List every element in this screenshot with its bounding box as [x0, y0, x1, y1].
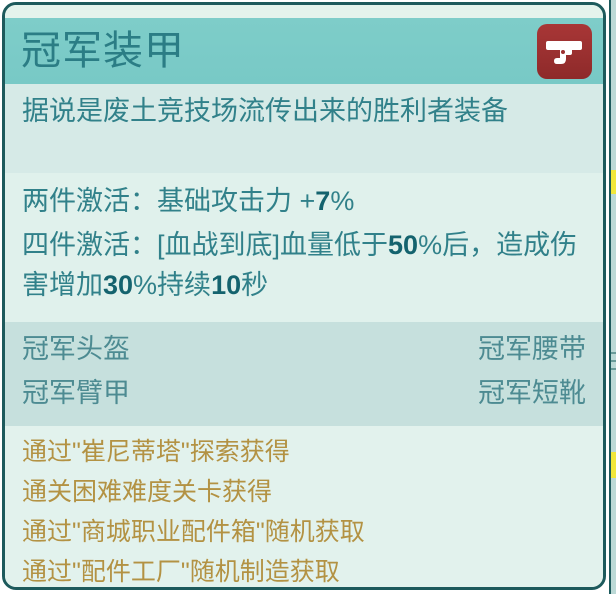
two-piece-value: 7: [315, 186, 330, 216]
tooltip-header: 冠军装甲: [5, 18, 603, 84]
four-piece-label: 四件激活：: [22, 230, 157, 260]
set-bonus-two-piece: 两件激活：基础攻击力 +7%: [22, 181, 594, 221]
four-piece-value-2: 30: [103, 270, 133, 300]
set-piece-belt[interactable]: 冠军腰带: [478, 332, 586, 366]
set-piece-helmet[interactable]: 冠军头盔: [22, 332, 130, 366]
two-piece-effect-prefix: 基础攻击力 +: [157, 186, 315, 216]
page-title: 冠军装甲: [21, 23, 185, 79]
acquisition-method-1: 通过"崔尼蒂塔"探索获得: [22, 436, 290, 468]
acquisition-method-2: 通关困难难度关卡获得: [22, 476, 272, 508]
two-piece-effect-suffix: %: [330, 186, 354, 216]
two-piece-label: 两件激活：: [22, 186, 157, 216]
set-piece-boots[interactable]: 冠军短靴: [478, 376, 586, 410]
tooltip-top-band: [5, 5, 603, 18]
set-description-text: 据说是废土竞技场流传出来的胜利者装备: [22, 90, 592, 132]
four-piece-value-3: 10: [211, 270, 241, 300]
set-bonus-section: 两件激活：基础攻击力 +7% 四件激活：[血战到底]血量低于50%后，造成伤害增…: [5, 173, 603, 322]
scroll-marker-upper: [611, 170, 616, 194]
scroll-marker-lower: [611, 452, 616, 478]
scroll-tick-2: [611, 360, 616, 362]
set-pieces-section: 冠军头盔 冠军腰带 冠军臂甲 冠军短靴: [5, 322, 603, 426]
pistol-icon: [537, 24, 592, 79]
set-piece-armguard[interactable]: 冠军臂甲: [22, 376, 130, 410]
description-section: 据说是废土竞技场流传出来的胜利者装备: [5, 84, 603, 173]
side-scroll-strip[interactable]: [609, 0, 616, 594]
set-bonus-four-piece: 四件激活：[血战到底]血量低于50%后，造成伤害增加30%持续10秒: [22, 225, 594, 305]
four-piece-segment-4: 秒: [241, 270, 268, 300]
acquisition-section: 通过"崔尼蒂塔"探索获得 通关困难难度关卡获得 通过"商城职业配件箱"随机获取 …: [5, 426, 603, 590]
four-piece-segment-3: %持续: [133, 270, 211, 300]
item-set-tooltip: 冠军装甲 据说是废土竞技场流传出来的胜利者装备 两件激活：基础攻击力 +7% 四…: [2, 2, 606, 590]
acquisition-method-3: 通过"商城职业配件箱"随机获取: [22, 516, 365, 548]
scroll-tick-3: [611, 368, 616, 370]
four-piece-value-1: 50: [388, 230, 418, 260]
acquisition-method-4: 通过"配件工厂"随机制造获取: [22, 556, 340, 588]
four-piece-segment-1: [血战到底]血量低于: [157, 230, 388, 260]
scroll-tick-1: [611, 352, 616, 354]
scroll-strip-border: [609, 0, 611, 594]
